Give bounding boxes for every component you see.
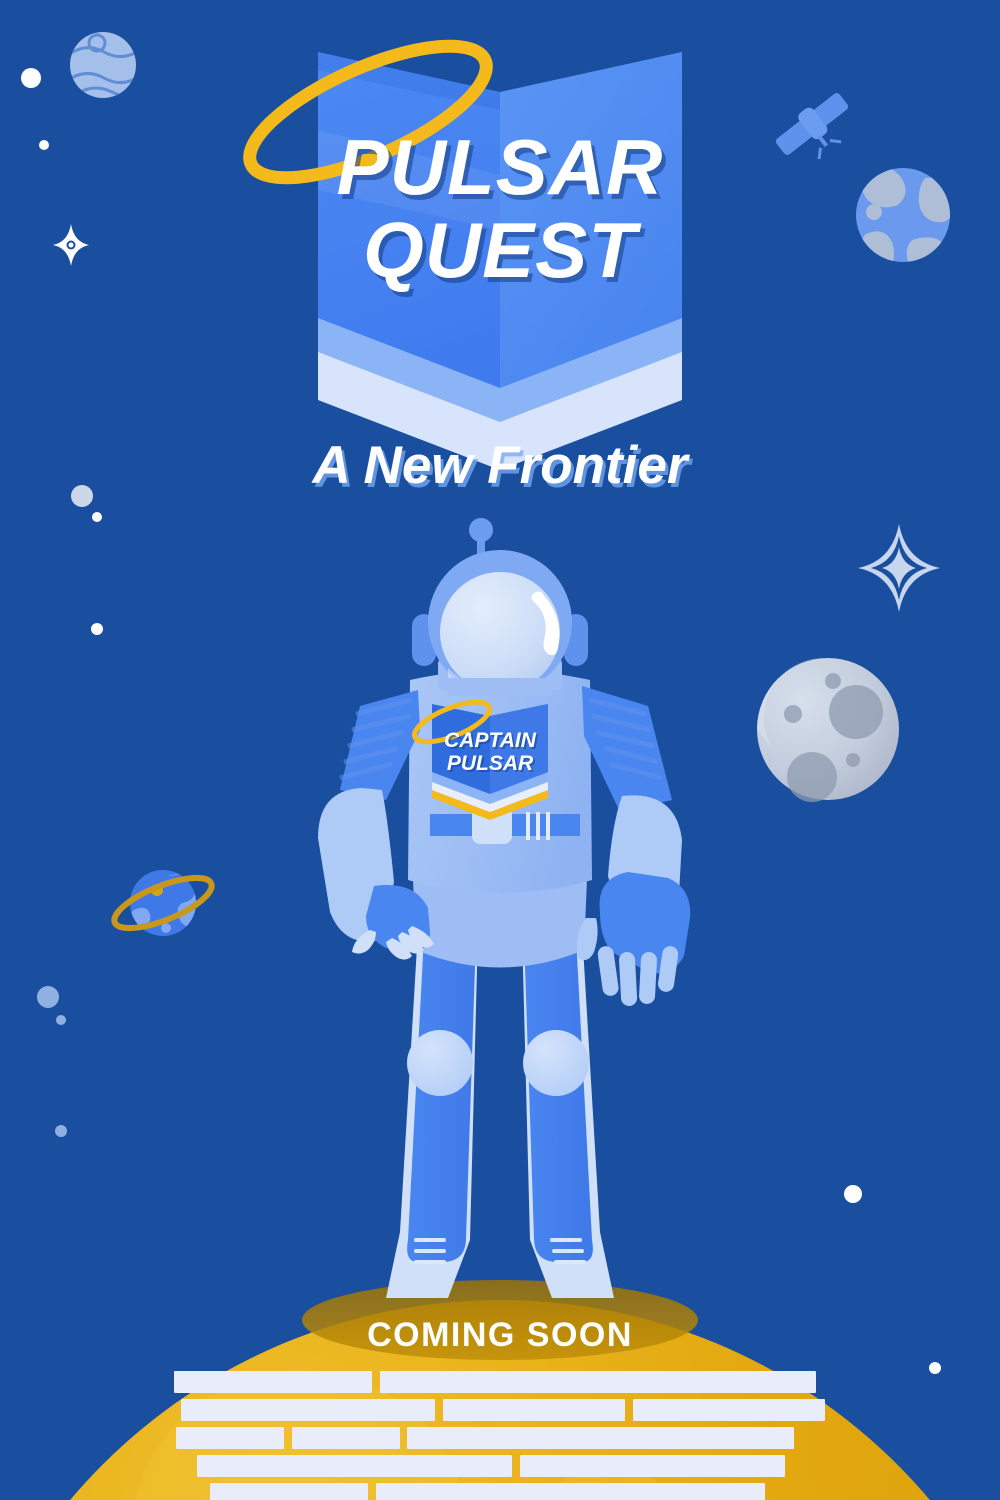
skeleton-bar xyxy=(210,1483,368,1500)
helmet-base xyxy=(448,678,552,696)
skeleton-bar xyxy=(407,1427,794,1449)
badge-label-line-1: CAPTAIN xyxy=(390,729,590,753)
skeleton-bar xyxy=(176,1427,284,1449)
skeleton-bar xyxy=(520,1455,785,1477)
status-text: COMING SOON xyxy=(0,1316,1000,1355)
skeleton-bar xyxy=(181,1399,435,1421)
knee-pad-left xyxy=(407,1030,473,1096)
helmet-visor xyxy=(440,572,560,692)
astronaut-arm-right xyxy=(577,686,690,1006)
skeleton-bar xyxy=(380,1371,816,1393)
knee-pad-right xyxy=(523,1030,589,1096)
astronaut-leg-right xyxy=(522,930,614,1298)
skeleton-bar xyxy=(197,1455,512,1477)
skeleton-bar xyxy=(376,1483,765,1500)
badge-label-line-2: PULSAR xyxy=(390,752,590,776)
antenna-tip xyxy=(469,518,493,542)
skeleton-bar xyxy=(292,1427,400,1449)
skeleton-bar xyxy=(633,1399,825,1421)
skeleton-bar xyxy=(174,1371,372,1393)
skeleton-bar xyxy=(443,1399,625,1421)
poster-canvas: PULSAR QUEST A New Frontier xyxy=(0,0,1000,1500)
astronaut-leg-left xyxy=(386,930,478,1298)
